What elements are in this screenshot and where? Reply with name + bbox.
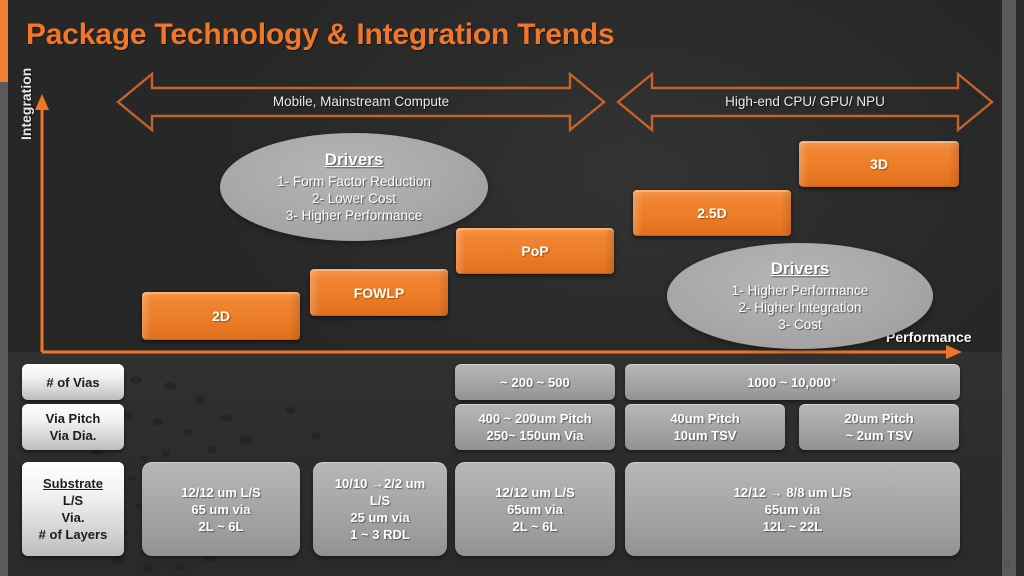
drivers-left-item-1: 1- Form Factor Reduction bbox=[277, 173, 431, 190]
tech-box-2p5d[interactable]: 2.5D bbox=[633, 190, 791, 236]
page-title: Package Technology & Integration Trends bbox=[26, 18, 614, 52]
band-label-highend: High-end CPU/ GPU/ NPU bbox=[676, 94, 934, 109]
tech-box-fowlp[interactable]: FOWLP bbox=[310, 269, 448, 316]
cell-pitch-2-line-1: 40um Pitch bbox=[670, 410, 739, 427]
cell-pitch-1: 400 ~ 200um Pitch 250~ 150um Via bbox=[455, 404, 615, 450]
band-label-mobile: Mobile, Mainstream Compute bbox=[230, 94, 492, 109]
cell-substrate-3-line-1: 12/12 um L/S bbox=[495, 484, 574, 501]
cell-pitch-3: 20um Pitch ~ 2um TSV bbox=[799, 404, 959, 450]
cell-pitch-1-line-1: 400 ~ 200um Pitch bbox=[478, 410, 591, 427]
tech-box-2d-label: 2D bbox=[212, 308, 230, 324]
drivers-right-item-1: 1- Higher Performance bbox=[732, 282, 869, 299]
drivers-left-item-3: 3- Higher Performance bbox=[286, 207, 423, 224]
tech-box-pop[interactable]: PoP bbox=[456, 228, 614, 274]
row-label-substrate-line-4: # of Layers bbox=[39, 526, 108, 543]
drivers-right-item-3: 3- Cost bbox=[778, 316, 822, 333]
cell-substrate-4-line-3: 12L ~ 22L bbox=[763, 518, 822, 535]
drivers-left-title: Drivers bbox=[325, 150, 384, 170]
cell-substrate-1-line-2: 65 um via bbox=[191, 501, 250, 518]
row-label-via-pitch-line-2: Via Dia. bbox=[50, 427, 97, 444]
cell-substrate-1-line-3: 2L ~ 6L bbox=[199, 518, 244, 535]
tech-box-3d[interactable]: 3D bbox=[799, 141, 959, 187]
cell-vias-high: 1000 ~ 10,000⁺ bbox=[625, 364, 960, 400]
cell-pitch-2: 40um Pitch 10um TSV bbox=[625, 404, 785, 450]
cell-substrate-2-line-2: L/S bbox=[370, 492, 390, 509]
cell-substrate-1-line-1: 12/12 um L/S bbox=[181, 484, 260, 501]
cell-substrate-2-line-1: 10/10 →2/2 um bbox=[335, 475, 425, 492]
right-gray-strip bbox=[1002, 0, 1016, 576]
slide-canvas: Package Technology & Integration Trends … bbox=[0, 0, 1024, 576]
drivers-right-title: Drivers bbox=[771, 259, 830, 279]
row-label-substrate-line-3: Via. bbox=[62, 509, 85, 526]
row-label-num-vias: # of Vias bbox=[22, 364, 124, 400]
cell-substrate-3: 12/12 um L/S 65um via 2L ~ 6L bbox=[455, 462, 615, 556]
drivers-ellipse-right: Drivers 1- Higher Performance 2- Higher … bbox=[667, 243, 933, 349]
row-label-via-pitch-line-1: Via Pitch bbox=[46, 410, 101, 427]
cell-vias-high-line-1: 1000 ~ 10,000⁺ bbox=[747, 374, 837, 391]
cell-substrate-4: 12/12 → 8/8 um L/S 65um via 12L ~ 22L bbox=[625, 462, 960, 556]
cell-substrate-1: 12/12 um L/S 65 um via 2L ~ 6L bbox=[142, 462, 300, 556]
tech-box-2d[interactable]: 2D bbox=[142, 292, 300, 340]
y-axis-label: Integration bbox=[18, 68, 34, 140]
cell-pitch-3-line-2: ~ 2um TSV bbox=[846, 427, 913, 444]
cell-vias-mid-line-1: ~ 200 ~ 500 bbox=[500, 374, 569, 391]
cell-substrate-3-line-2: 65um via bbox=[507, 501, 563, 518]
row-label-via-pitch: Via Pitch Via Dia. bbox=[22, 404, 124, 450]
cell-substrate-2-line-4: 1 ~ 3 RDL bbox=[350, 526, 410, 543]
cell-substrate-3-line-3: 2L ~ 6L bbox=[513, 518, 558, 535]
cell-substrate-2-line-3: 25 um via bbox=[350, 509, 409, 526]
tech-box-fowlp-label: FOWLP bbox=[354, 285, 405, 301]
drivers-ellipse-left: Drivers 1- Form Factor Reduction 2- Lowe… bbox=[220, 133, 488, 241]
cell-vias-mid: ~ 200 ~ 500 bbox=[455, 364, 615, 400]
row-label-num-vias-line-1: # of Vias bbox=[46, 374, 99, 391]
cell-pitch-2-line-2: 10um TSV bbox=[674, 427, 737, 444]
tech-box-2p5d-label: 2.5D bbox=[697, 205, 727, 221]
drivers-right-item-2: 2- Higher Integration bbox=[738, 299, 861, 316]
tech-box-pop-label: PoP bbox=[521, 243, 548, 259]
cell-pitch-1-line-2: 250~ 150um Via bbox=[487, 427, 584, 444]
tech-box-3d-label: 3D bbox=[870, 156, 888, 172]
cell-substrate-2: 10/10 →2/2 um L/S 25 um via 1 ~ 3 RDL bbox=[313, 462, 447, 556]
cell-substrate-4-line-2: 65um via bbox=[765, 501, 821, 518]
page-number: 5 bbox=[1004, 558, 1010, 570]
row-label-substrate-line-1: Substrate bbox=[43, 475, 103, 492]
left-orange-accent-bar bbox=[0, 0, 8, 82]
cell-pitch-3-line-1: 20um Pitch bbox=[844, 410, 913, 427]
left-gray-strip bbox=[0, 82, 8, 576]
right-dark-strip bbox=[1016, 0, 1024, 576]
cell-substrate-4-line-1: 12/12 → 8/8 um L/S bbox=[734, 484, 852, 501]
row-label-substrate: Substrate L/S Via. # of Layers bbox=[22, 462, 124, 556]
row-label-substrate-line-2: L/S bbox=[63, 492, 83, 509]
drivers-left-item-2: 2- Lower Cost bbox=[312, 190, 396, 207]
